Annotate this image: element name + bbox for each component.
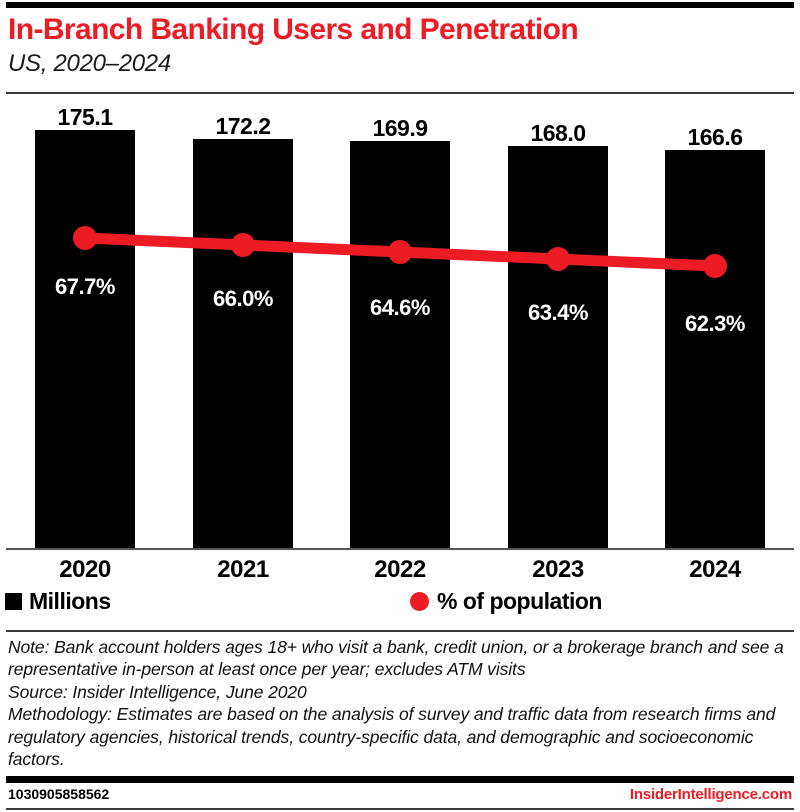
pct-marker-2022 xyxy=(388,240,412,264)
pct-line xyxy=(85,238,715,266)
legend-label-pct-of-population: % of population xyxy=(437,588,602,615)
bar-2021 xyxy=(193,139,293,548)
pct-label-2022: 64.6% xyxy=(350,295,450,321)
x-tick-2021: 2021 xyxy=(193,556,293,584)
footnote-divider xyxy=(6,630,794,632)
bar-value-2023: 168.0 xyxy=(508,120,608,147)
pct-label-2023: 63.4% xyxy=(508,300,608,326)
x-tick-2024: 2024 xyxy=(665,556,765,584)
bar-value-2022: 169.9 xyxy=(350,115,450,142)
document-id: 1030905858562 xyxy=(8,786,109,802)
bar-2024 xyxy=(665,150,765,548)
pct-marker-2024 xyxy=(703,254,727,278)
legend-item-millions: Millions xyxy=(5,588,111,615)
pct-marker-2023 xyxy=(546,247,570,271)
bar-2022 xyxy=(350,141,450,548)
top-divider xyxy=(6,2,794,8)
pct-marker-2021 xyxy=(231,233,255,257)
x-tick-2022: 2022 xyxy=(350,556,450,584)
red-circle-icon xyxy=(410,592,429,611)
bar-value-2024: 166.6 xyxy=(665,124,765,151)
x-tick-2020: 2020 xyxy=(35,556,135,584)
pct-label-2020: 67.7% xyxy=(35,274,135,300)
chart-legend: Millions % of population xyxy=(0,588,800,618)
legend-item-pct-of-population: % of population xyxy=(410,588,602,615)
methodology-text: Methodology: Estimates are based on the … xyxy=(8,703,790,770)
bar-2023 xyxy=(508,146,608,548)
footnotes: Note: Bank account holders ages 18+ who … xyxy=(8,636,790,770)
black-square-icon xyxy=(5,593,22,610)
legend-label-millions: Millions xyxy=(29,588,111,615)
bar-2020 xyxy=(35,130,135,548)
bar-value-2020: 175.1 xyxy=(35,104,135,131)
source-text: Source: Insider Intelligence, June 2020 xyxy=(8,681,790,703)
pct-label-2024: 62.3% xyxy=(665,311,765,337)
footer-divider xyxy=(6,776,794,783)
chart-footer: 1030905858562 InsiderIntelligence.com xyxy=(6,786,794,808)
bar-value-2021: 172.2 xyxy=(193,113,293,140)
chart-subtitle: US, 2020–2024 xyxy=(8,51,792,76)
chart-page: In-Branch Banking Users and Penetration … xyxy=(0,0,800,812)
x-axis-line xyxy=(6,548,794,550)
chart-header: In-Branch Banking Users and Penetration … xyxy=(8,14,792,76)
bottom-divider xyxy=(6,808,794,810)
header-divider xyxy=(6,92,794,94)
x-tick-2023: 2023 xyxy=(508,556,608,584)
pct-marker-2020 xyxy=(73,226,97,250)
note-text: Note: Bank account holders ages 18+ who … xyxy=(8,636,790,681)
brand-link[interactable]: InsiderIntelligence.com xyxy=(630,786,792,803)
chart-title: In-Branch Banking Users and Penetration xyxy=(8,14,792,46)
pct-label-2021: 66.0% xyxy=(193,286,293,312)
